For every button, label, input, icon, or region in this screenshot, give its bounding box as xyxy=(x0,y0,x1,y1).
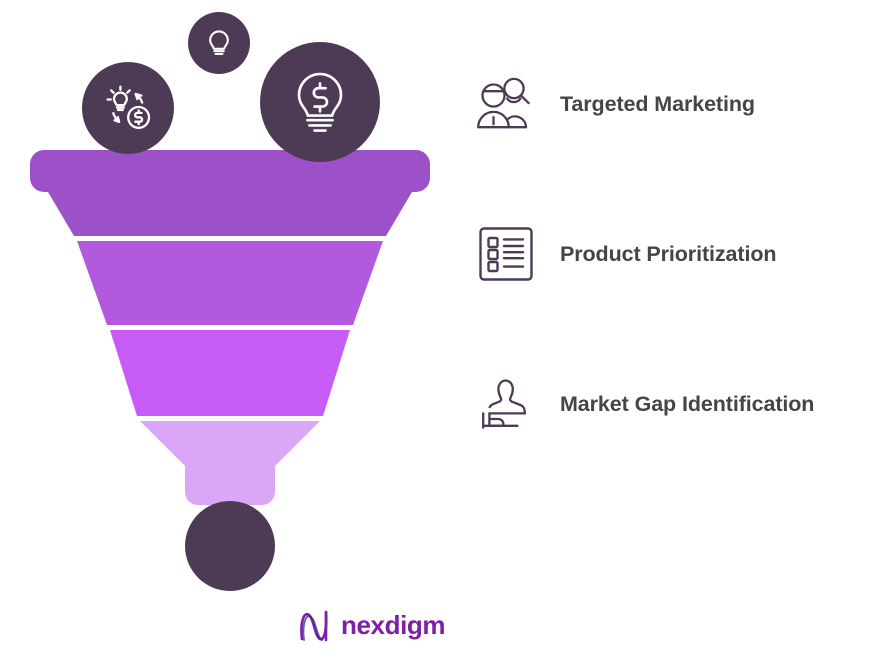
list-item-label: Product Prioritization xyxy=(560,242,776,267)
funnel-shape xyxy=(0,0,460,600)
list-item: Market Gap Identification xyxy=(474,368,814,440)
list-item: Product Prioritization xyxy=(474,218,776,290)
checklist-icon xyxy=(474,222,538,286)
bubble-idea-to-money-cycle xyxy=(82,62,174,154)
list-item-label: Market Gap Identification xyxy=(560,392,814,417)
list-item-label: Targeted Marketing xyxy=(560,92,755,117)
bubble-idea xyxy=(188,12,250,74)
funnel-band-4 xyxy=(140,421,320,505)
lightbulb-icon xyxy=(202,26,236,60)
people-search-icon xyxy=(474,72,538,136)
lightbulb-arrows-dollar-icon xyxy=(97,77,159,139)
brand-name: nexdigm xyxy=(341,612,445,638)
person-hand-icon xyxy=(474,372,538,436)
nexdigm-n-mark-icon xyxy=(298,606,332,644)
funnel-band-2 xyxy=(77,241,383,325)
benefits-list: Targeted Marketing Product Prioritizatio… xyxy=(474,0,873,600)
funnel-graphic xyxy=(0,0,460,600)
funnel-band-3 xyxy=(110,330,350,416)
list-item: Targeted Marketing xyxy=(474,68,755,140)
lightbulb-dollar-icon xyxy=(282,64,358,140)
brand-logo: nexdigm xyxy=(298,606,445,644)
funnel-output-circle xyxy=(185,501,275,591)
funnel-band-1 xyxy=(30,150,430,236)
bubble-monetized-idea xyxy=(260,42,380,162)
funnel-infographic: Targeted Marketing Product Prioritizatio… xyxy=(0,0,873,653)
